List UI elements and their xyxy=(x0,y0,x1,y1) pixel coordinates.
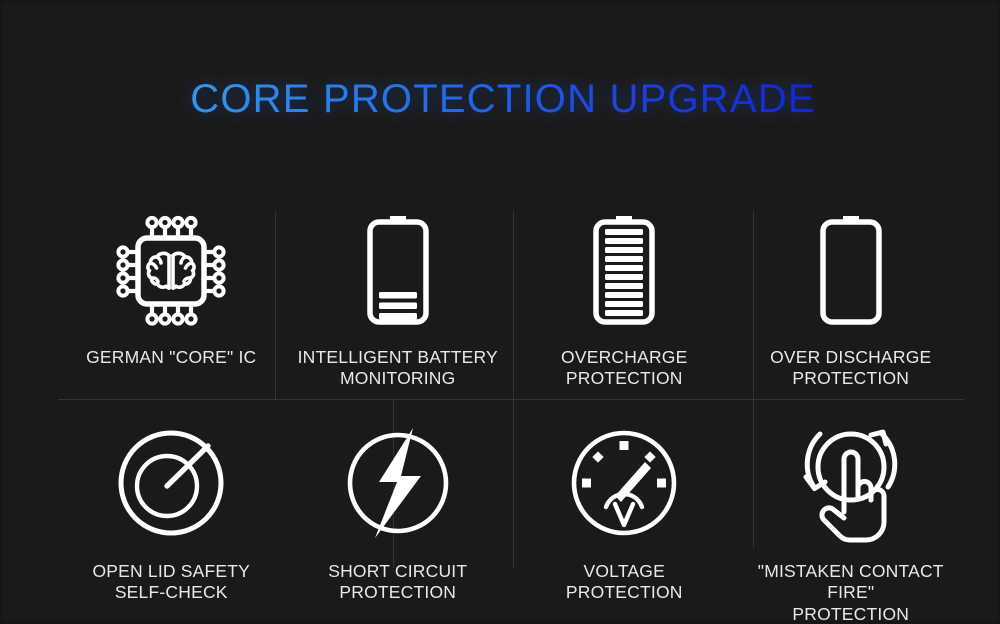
feature-grid: GERMAN "CORE" IC INTELLIGENT BATTERY MON… xyxy=(58,201,964,605)
battery-full-icon xyxy=(578,209,670,333)
feature-cell-german-core-ic: GERMAN "CORE" IC xyxy=(58,201,285,399)
hand-touch-rotate-icon xyxy=(788,423,914,543)
feature-label: OVER DISCHARGE PROTECTION xyxy=(766,347,935,390)
feature-cell-over-discharge-protection: OVER DISCHARGE PROTECTION xyxy=(738,201,965,399)
lightning-bolt-circle-icon xyxy=(335,423,461,543)
feature-cell-voltage-protection: VOLTAGE PROTECTION xyxy=(511,399,738,605)
feature-label: OPEN LID SAFETY SELF-CHECK xyxy=(88,561,254,604)
voltmeter-icon xyxy=(565,423,683,543)
battery-empty-icon xyxy=(805,209,897,333)
page-title-container: CORE PROTECTION UPGRADE xyxy=(3,79,1000,119)
feature-label: INTELLIGENT BATTERY MONITORING xyxy=(294,347,502,390)
feature-label: SHORT CIRCUIT PROTECTION xyxy=(324,561,471,604)
feature-cell-intelligent-battery-monitoring: INTELLIGENT BATTERY MONITORING xyxy=(285,201,512,399)
feature-label: OVERCHARGE PROTECTION xyxy=(557,347,691,390)
cpu-brain-icon xyxy=(108,209,234,333)
battery-low-icon xyxy=(352,209,444,333)
feature-cell-open-lid-safety-self-check: OPEN LID SAFETY SELF-CHECK xyxy=(58,399,285,605)
infographic-page: CORE PROTECTION UPGRADE xyxy=(0,0,1000,624)
feature-label: VOLTAGE PROTECTION xyxy=(562,561,687,604)
feature-cell-short-circuit-protection: SHORT CIRCUIT PROTECTION xyxy=(285,399,512,605)
feature-label: "MISTAKEN CONTACT FIRE" PROTECTION xyxy=(738,561,965,624)
feature-label: GERMAN "CORE" IC xyxy=(82,347,260,368)
feature-cell-overcharge-protection: OVERCHARGE PROTECTION xyxy=(511,201,738,399)
page-title: CORE PROTECTION UPGRADE xyxy=(190,79,815,119)
gauge-needle-icon xyxy=(112,423,230,543)
feature-cell-mistaken-contact-fire-protection: "MISTAKEN CONTACT FIRE" PROTECTION xyxy=(738,399,965,605)
